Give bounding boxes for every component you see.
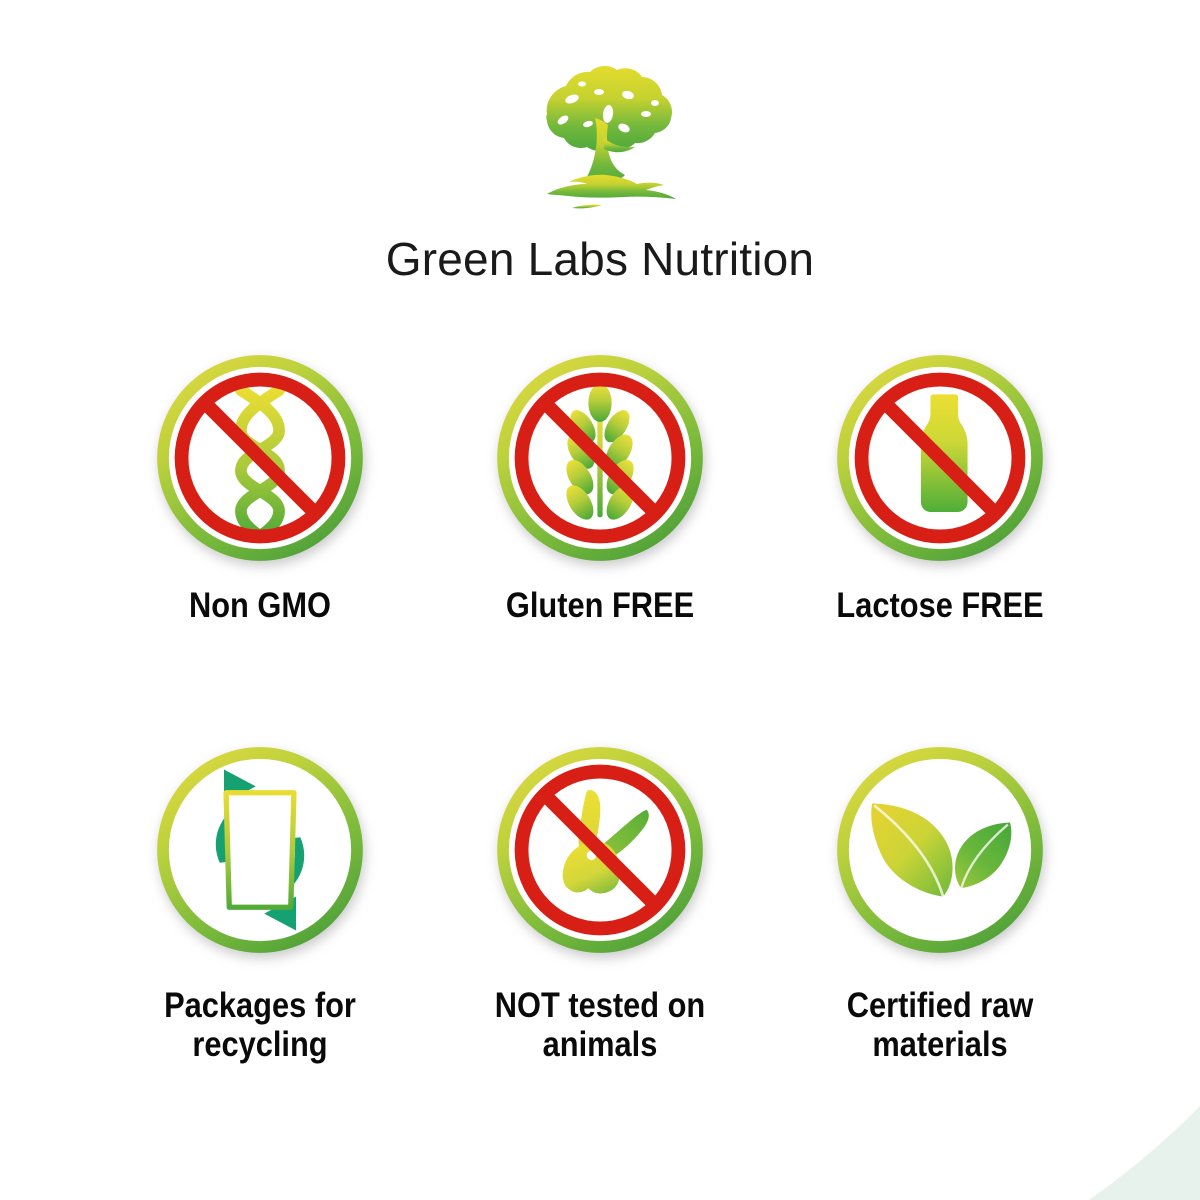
badge-lactose-free[interactable] [834,352,1046,564]
brand-header: Green Labs Nutrition [0,62,1200,286]
badge-cell-certified-raw-materials[interactable]: Certified raw materials [780,744,1100,1065]
badge-cell-non-gmo[interactable]: Non GMO [100,352,420,626]
page-title: Green Labs Nutrition [0,232,1200,286]
badge-label: Lactose FREE [799,586,1081,626]
badge-packages-for-recycling[interactable] [154,744,366,956]
badge-label: Certified raw materials [799,986,1081,1065]
badge-cell-gluten-free[interactable]: Gluten FREE [440,352,760,626]
tree-icon [500,62,700,222]
infographic-canvas: Green Labs Nutrition [0,0,1200,1200]
badge-not-tested-on-animals[interactable] [494,744,706,956]
badge-cell-not-tested-on-animals[interactable]: NOT tested on animals [440,744,760,1065]
badge-cell-packages-for-recycling[interactable]: Packages for recycling [100,744,420,1065]
badge-certified-raw-materials[interactable] [834,744,1046,956]
certification-badge-grid: Non GMO [100,352,1100,1065]
badge-label: Packages for recycling [119,986,401,1065]
badge-gluten-free[interactable] [494,352,706,564]
badge-row-2: Packages for recycling [100,744,1100,1065]
badge-label: NOT tested on animals [459,986,741,1065]
badge-non-gmo[interactable] [154,352,366,564]
badge-row-1: Non GMO [100,352,1100,626]
badge-cell-lactose-free[interactable]: Lactose FREE [780,352,1100,626]
badge-label: Gluten FREE [459,586,741,626]
badge-label: Non GMO [119,586,401,626]
